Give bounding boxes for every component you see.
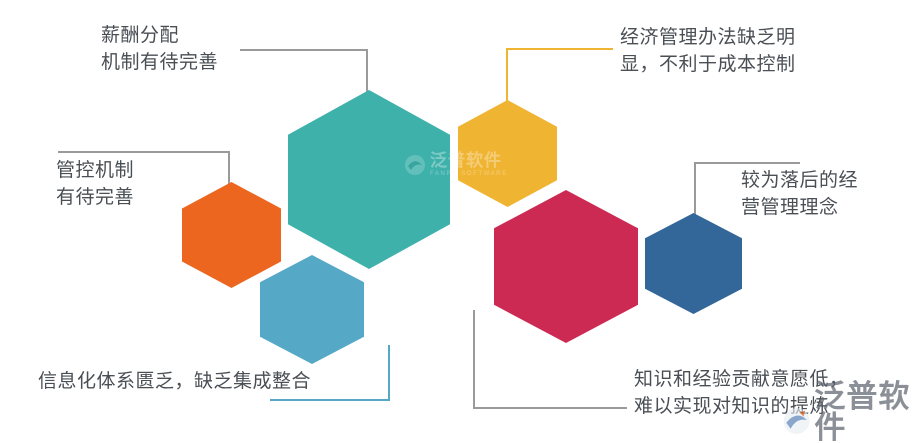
connector-economic-vertical xyxy=(506,48,508,103)
label-control-mechanism: 管控机制 有待完善 xyxy=(56,158,134,212)
label-informatization-system: 信息化体系匮乏，缺乏集成整合 xyxy=(38,369,311,396)
connector-knowledge-horizontal xyxy=(473,407,627,409)
label-salary-line1: 薪酬分配 xyxy=(101,23,218,50)
label-control-line2: 有待完善 xyxy=(56,185,134,212)
label-informatization-line1: 信息化体系匮乏，缺乏集成整合 xyxy=(38,369,311,396)
connector-informatization-vertical xyxy=(388,345,390,401)
hexagon-management-philosophy[interactable] xyxy=(645,213,742,314)
infographic-canvas: 薪酬分配 机制有待完善 管控机制 有待完善 经济管理办法缺乏明 显，不利于成本控… xyxy=(0,0,917,443)
label-economic-management: 经济管理办法缺乏明 显，不利于成本控制 xyxy=(620,25,796,79)
connector-economic-horizontal xyxy=(506,48,613,50)
label-knowledge-contribution: 知识和经验贡献意愿低， 难以实现对知识的提炼 xyxy=(634,367,849,421)
connector-control-vertical xyxy=(228,151,230,184)
label-salary-line2: 机制有待完善 xyxy=(101,50,218,77)
connector-knowledge-vertical xyxy=(473,310,475,409)
label-philosophy-line2: 营管理理念 xyxy=(741,195,858,222)
connector-control-horizontal xyxy=(58,151,230,153)
connector-philosophy-vertical xyxy=(694,162,696,216)
label-control-line1: 管控机制 xyxy=(56,158,134,185)
label-knowledge-line1: 知识和经验贡献意愿低， xyxy=(634,367,849,394)
connector-salary-vertical xyxy=(366,49,368,93)
hexagon-knowledge-contribution[interactable] xyxy=(494,190,638,343)
label-salary-distribution: 薪酬分配 机制有待完善 xyxy=(101,23,218,77)
connector-informatization-horizontal xyxy=(270,399,390,401)
label-knowledge-line2: 难以实现对知识的提炼 xyxy=(634,394,849,421)
connector-salary-horizontal xyxy=(240,49,368,51)
label-management-philosophy: 较为落后的经 营管理理念 xyxy=(741,168,858,222)
label-economic-line1: 经济管理办法缺乏明 xyxy=(620,25,796,52)
connector-philosophy-horizontal xyxy=(694,162,800,164)
label-economic-line2: 显，不利于成本控制 xyxy=(620,52,796,79)
hexagon-salary-distribution[interactable] xyxy=(288,90,450,269)
hexagon-informatization-system[interactable] xyxy=(260,255,364,364)
label-philosophy-line1: 较为落后的经 xyxy=(741,168,858,195)
